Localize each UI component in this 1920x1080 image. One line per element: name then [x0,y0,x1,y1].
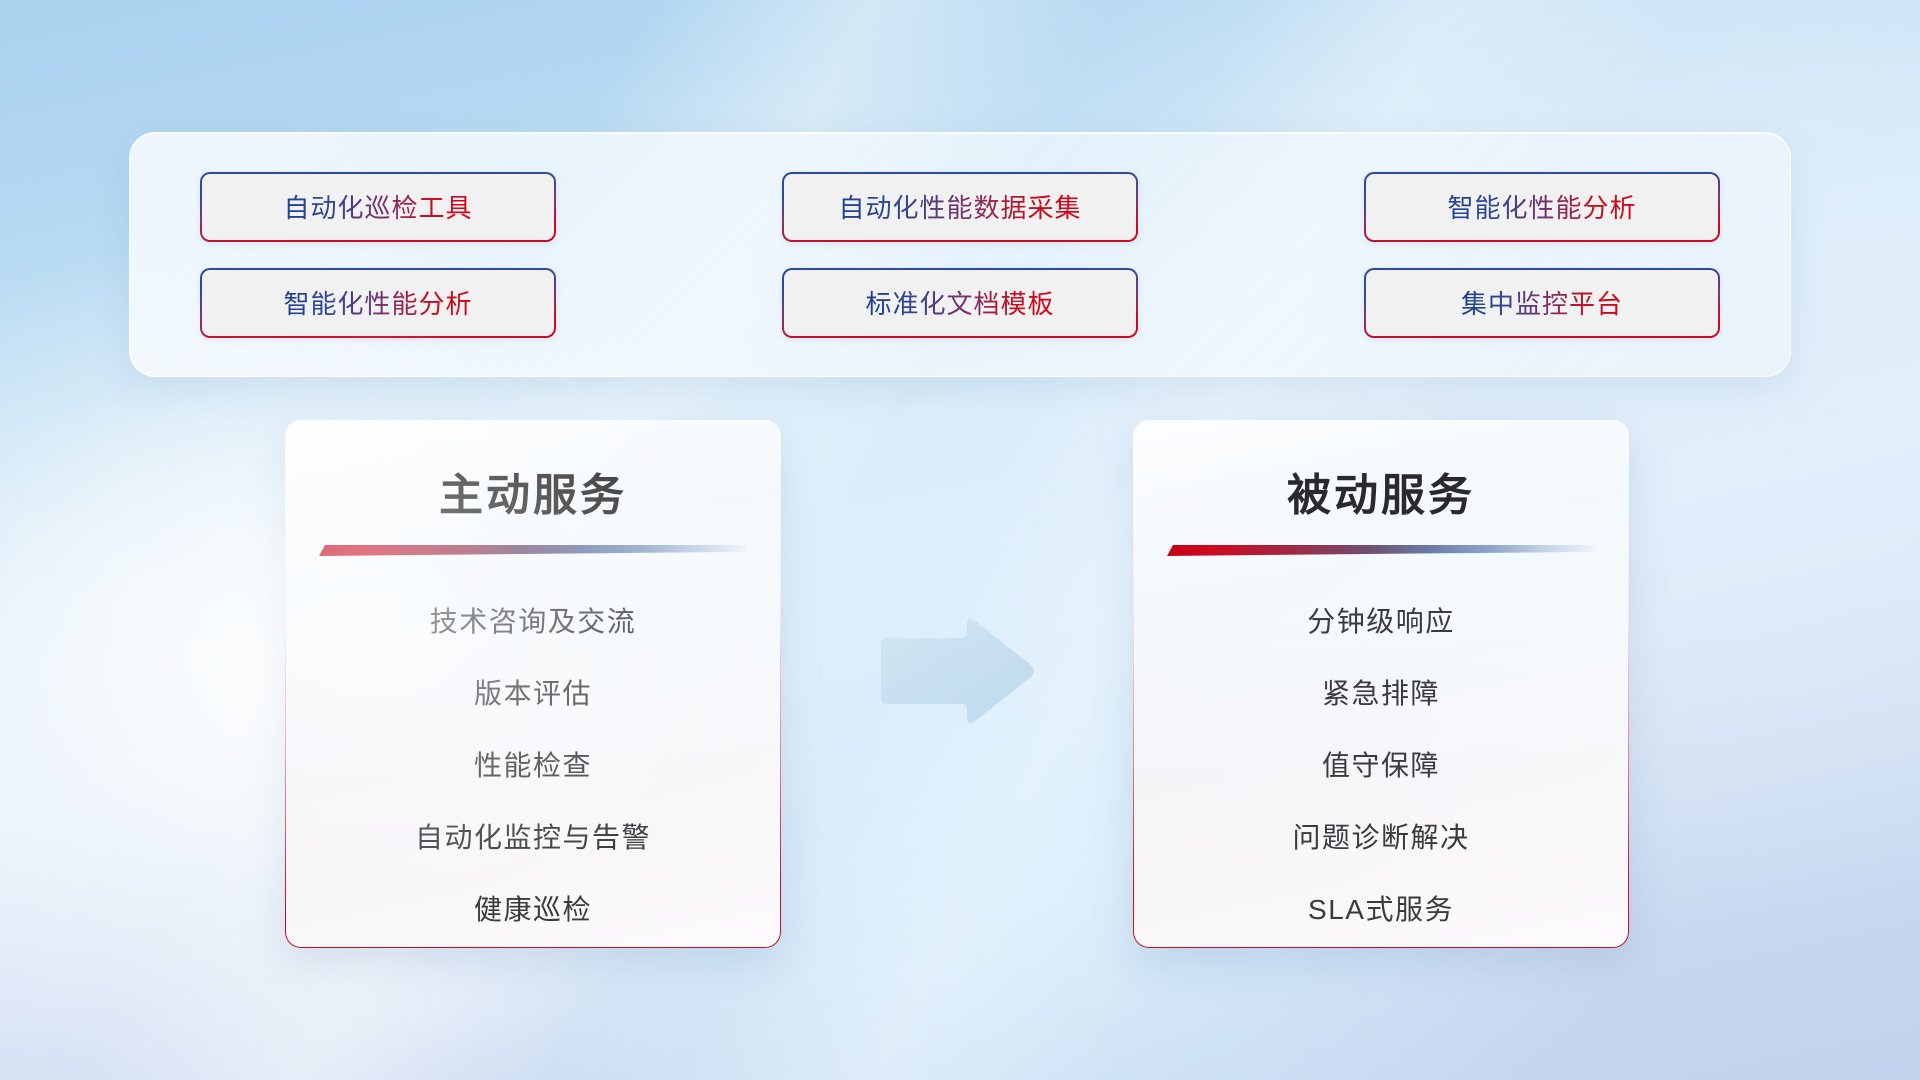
list-item: 紧急排障 [1322,658,1440,730]
card-title: 主动服务 [439,459,627,523]
list-item: 健康巡检 [474,874,592,946]
pill-label: 智能化性能分析 [283,284,472,321]
pill-label: 标准化文档模板 [865,284,1054,321]
card-title: 被动服务 [1287,459,1475,523]
list-item: 值守保障 [1322,730,1440,802]
pill-intelligent-performance-analysis[interactable]: 智能化性能分析 [1364,172,1720,242]
card-divider [1167,545,1595,556]
card-divider [319,545,747,556]
pill-label: 智能化性能分析 [1447,188,1636,225]
list-item: 性能检查 [474,730,592,802]
pill-centralized-monitoring-platform[interactable]: 集中监控平台 [1364,268,1720,338]
pill-row-1: 自动化巡检工具 自动化性能数据采集 智能化性能分析 [200,172,1720,242]
slide-canvas: 自动化巡检工具 自动化性能数据采集 智能化性能分析 智能化性能分析 标准化文档模… [0,0,1920,1080]
pill-intelligent-performance-analysis-2[interactable]: 智能化性能分析 [200,268,556,338]
list-item: 版本评估 [474,658,592,730]
list-item: 技术咨询及交流 [430,586,637,658]
service-card-proactive: 主动服务 技术咨询及交流 版本评估 性能检查 自动化监控与告警 健康巡检 [285,420,781,948]
pill-label: 自动化巡检工具 [283,188,472,225]
list-item: SLA式服务 [1308,874,1454,946]
service-card-reactive: 被动服务 分钟级响应 紧急排障 值守保障 问题诊断解决 SLA式服务 [1133,420,1629,948]
pill-standard-document-template[interactable]: 标准化文档模板 [782,268,1138,338]
pill-auto-performance-data-collection[interactable]: 自动化性能数据采集 [782,172,1138,242]
list-item: 问题诊断解决 [1292,802,1469,874]
pill-label: 自动化性能数据采集 [838,188,1081,225]
capability-pill-panel: 自动化巡检工具 自动化性能数据采集 智能化性能分析 智能化性能分析 标准化文档模… [129,132,1791,377]
card-list: 技术咨询及交流 版本评估 性能检查 自动化监控与告警 健康巡检 [286,586,780,946]
pill-label: 集中监控平台 [1461,284,1623,321]
list-item: 分钟级响应 [1307,586,1455,658]
pill-row-2: 智能化性能分析 标准化文档模板 集中监控平台 [200,268,1720,338]
pill-auto-inspection-tool[interactable]: 自动化巡检工具 [200,172,556,242]
arrow-right-icon [877,616,1037,726]
card-list: 分钟级响应 紧急排障 值守保障 问题诊断解决 SLA式服务 [1134,586,1628,946]
list-item: 自动化监控与告警 [415,802,651,874]
